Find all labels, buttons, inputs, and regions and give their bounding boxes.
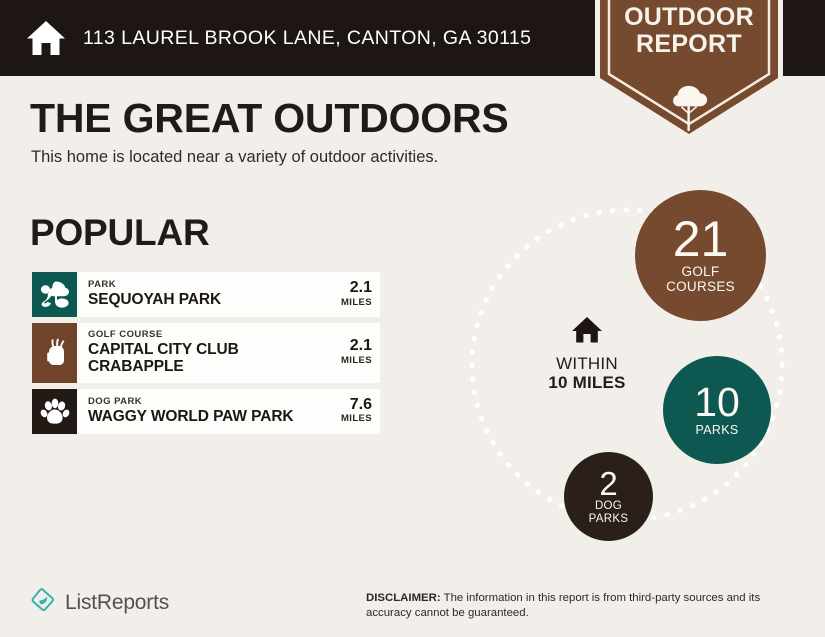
stat-count: 10 <box>694 383 740 422</box>
stat-label-line2: COURSES <box>666 280 735 295</box>
disclaimer-label: DISCLAIMER: <box>366 592 441 604</box>
stat-label-line1: DOG <box>595 500 622 513</box>
list-item-distance: 7.6 MILES <box>335 397 372 425</box>
stat-count: 2 <box>599 468 617 499</box>
paw-print-icon <box>32 389 77 434</box>
list-item-distance-value: 7.6 <box>341 397 372 414</box>
list-item[interactable]: DOG PARK WAGGY WORLD PAW PARK 7.6 MILES <box>32 389 380 434</box>
listreports-wordmark: ListReports <box>65 591 169 615</box>
list-item-distance: 2.1 MILES <box>335 338 372 366</box>
home-icon <box>26 19 66 57</box>
popular-list: PARK SEQUOYAH PARK 2.1 MILES <box>32 272 380 440</box>
list-item-content: PARK SEQUOYAH PARK 2.1 MILES <box>77 272 380 317</box>
outdoor-report-badge: OUTDOOR REPORT <box>592 0 786 143</box>
list-item-content: DOG PARK WAGGY WORLD PAW PARK 7.6 MILES <box>77 389 380 434</box>
badge-line2: REPORT <box>592 31 786 58</box>
within-label-line2: 10 MILES <box>527 374 647 393</box>
list-item-content: GOLF COURSE CAPITAL CITY CLUB CRABAPPLE … <box>77 323 380 383</box>
property-address: 113 LAUREL BROOK LANE, CANTON, GA 30115 <box>83 27 531 50</box>
disclaimer: DISCLAIMER: The information in this repo… <box>366 591 806 621</box>
golf-bag-icon <box>32 323 77 383</box>
page-title: THE GREAT OUTDOORS <box>30 96 509 141</box>
popular-section-title: POPULAR <box>30 212 210 254</box>
list-item-category: GOLF COURSE <box>88 329 335 341</box>
stat-label-line2: PARKS <box>589 513 629 526</box>
listreports-logo[interactable]: ListReports <box>30 587 169 618</box>
list-item-distance-value: 2.1 <box>341 338 372 355</box>
stat-bubble-dog-parks: 2 DOG PARKS <box>564 452 653 541</box>
list-item-distance-unit: MILES <box>341 297 372 308</box>
park-tree-icon <box>32 272 77 317</box>
outdoor-report-page: 113 LAUREL BROOK LANE, CANTON, GA 30115 … <box>0 0 825 637</box>
badge-line1: OUTDOOR <box>624 3 754 31</box>
within-label-line1: WITHIN <box>527 355 647 374</box>
stat-label-line1: PARKS <box>696 424 739 438</box>
list-item-distance: 2.1 MILES <box>335 280 372 308</box>
list-item-distance-unit: MILES <box>341 355 372 366</box>
home-icon <box>527 316 647 349</box>
list-item-distance-unit: MILES <box>341 413 372 424</box>
stats-cluster: 21 GOLF COURSES 10 PARKS 2 DOG PARKS WIT… <box>455 170 825 570</box>
list-item-category: DOG PARK <box>88 396 294 408</box>
stat-bubble-parks: 10 PARKS <box>663 356 771 464</box>
list-item-category: PARK <box>88 279 221 291</box>
badge-title: OUTDOOR REPORT <box>592 4 786 58</box>
list-item-name: SEQUOYAH PARK <box>88 291 221 308</box>
list-item-distance-value: 2.1 <box>341 280 372 297</box>
stat-bubble-golf-courses: 21 GOLF COURSES <box>635 190 766 321</box>
list-item[interactable]: GOLF COURSE CAPITAL CITY CLUB CRABAPPLE … <box>32 323 380 383</box>
stat-label-line1: GOLF <box>682 265 720 280</box>
listreports-house-icon <box>30 587 56 618</box>
header-address-group: 113 LAUREL BROOK LANE, CANTON, GA 30115 <box>26 0 531 76</box>
list-item[interactable]: PARK SEQUOYAH PARK 2.1 MILES <box>32 272 380 317</box>
within-radius-group: WITHIN 10 MILES <box>527 316 647 392</box>
list-item-name: WAGGY WORLD PAW PARK <box>88 408 294 425</box>
stat-count: 21 <box>673 216 729 264</box>
list-item-name: CAPITAL CITY CLUB CRABAPPLE <box>88 341 335 376</box>
page-subtitle: This home is located near a variety of o… <box>31 148 438 167</box>
